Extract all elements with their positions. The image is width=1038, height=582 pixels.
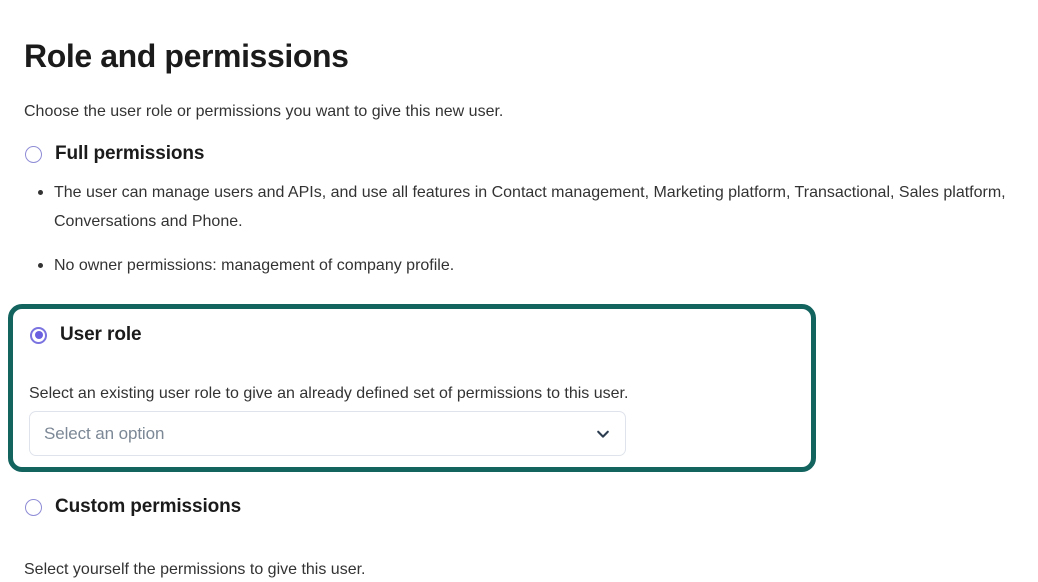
radio-option-full-permissions[interactable]: Full permissions — [25, 141, 204, 167]
user-role-highlight-card[interactable]: User role Select an existing user role t… — [8, 304, 816, 472]
page-subtitle: Choose the user role or permissions you … — [24, 100, 503, 124]
user-role-description: Select an existing user role to give an … — [29, 382, 628, 406]
radio-option-user-role[interactable]: User role — [30, 322, 141, 348]
radio-button-user-role[interactable] — [30, 327, 47, 344]
full-permissions-bullet-list: The user can manage users and APIs, and … — [36, 178, 1038, 280]
radio-button-custom-permissions[interactable] — [25, 499, 42, 516]
radio-label-custom-permissions: Custom permissions — [55, 494, 241, 520]
radio-label-full-permissions: Full permissions — [55, 141, 204, 167]
radio-button-full-permissions[interactable] — [25, 146, 42, 163]
user-role-select-wrapper[interactable]: Select an option — [29, 411, 626, 456]
radio-label-user-role: User role — [60, 322, 141, 348]
page-title: Role and permissions — [24, 35, 349, 77]
list-item: The user can manage users and APIs, and … — [54, 178, 1038, 236]
custom-permissions-description: Select yourself the permissions to give … — [24, 558, 366, 582]
list-item: No owner permissions: management of comp… — [54, 251, 1038, 280]
user-role-select[interactable]: Select an option — [29, 411, 626, 456]
role-and-permissions-page: Role and permissions Choose the user rol… — [0, 0, 1038, 580]
user-role-select-placeholder: Select an option — [44, 424, 595, 444]
radio-option-custom-permissions[interactable]: Custom permissions — [25, 494, 241, 520]
chevron-down-icon[interactable] — [595, 426, 611, 442]
